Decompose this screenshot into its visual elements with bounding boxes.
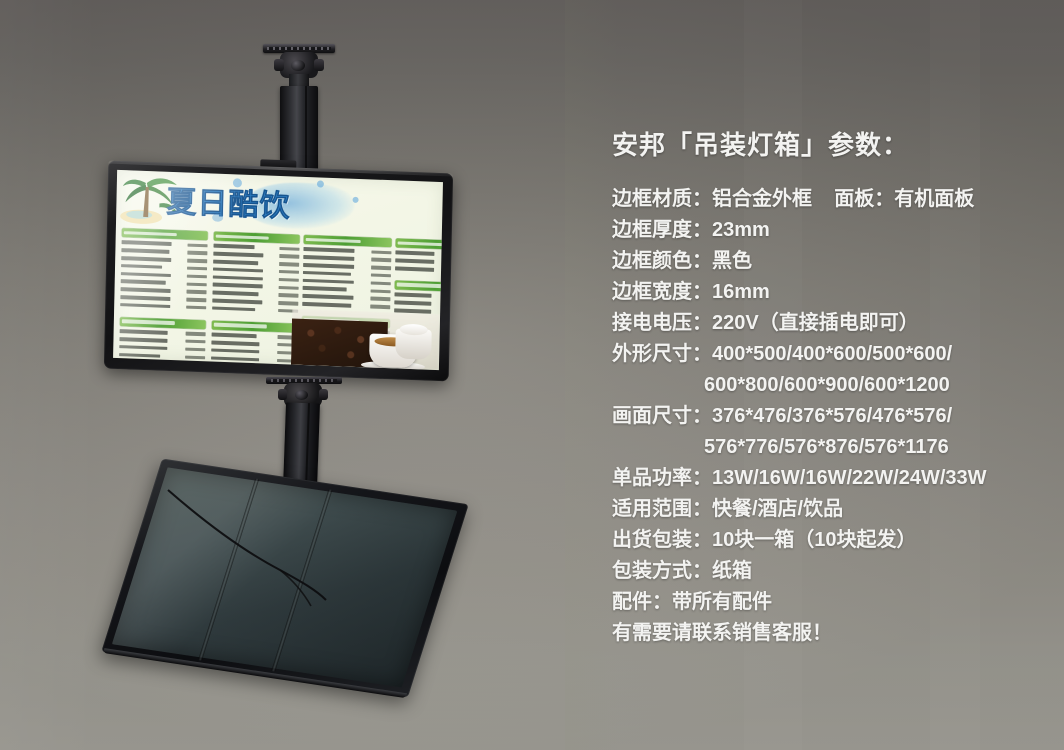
menu-item-name	[394, 293, 431, 298]
menu-item-price	[371, 250, 391, 254]
menu-item-name	[303, 271, 351, 276]
menu-item-price	[187, 251, 207, 255]
spec-line: 有需要请联系销售客服！	[612, 618, 1042, 649]
menu-column	[211, 232, 300, 371]
menu-column	[119, 228, 208, 370]
menu-item-name	[120, 329, 168, 334]
menu-item-name	[121, 248, 169, 253]
menu-item-name	[213, 244, 254, 249]
droplet-icon-3	[353, 197, 359, 203]
menu-item-name	[211, 356, 259, 361]
menu-item-price	[371, 281, 391, 285]
menu-item-price	[188, 243, 208, 247]
menu-item-price	[186, 298, 206, 302]
menu-item-name	[211, 340, 259, 345]
spec-line: 边框厚度：23mm	[612, 215, 1042, 246]
menu-item-name	[212, 291, 258, 296]
spec-line: 边框宽度：16mm	[612, 277, 1042, 308]
spec-line: 600*800/600*900/600*1200	[612, 370, 1042, 401]
menu-item-price	[371, 289, 391, 293]
menu-item-name	[395, 251, 434, 256]
menu-item-name	[213, 260, 258, 265]
menu-section-header	[122, 228, 208, 240]
menu-item-price	[278, 301, 298, 305]
menu-item-price	[370, 305, 390, 309]
spec-line: 外形尺寸：400*500/400*600/500*600/	[612, 339, 1042, 370]
menu-item-price	[279, 247, 299, 251]
menu-item-price	[187, 267, 207, 271]
menu-item-price	[371, 273, 391, 277]
menu-item-name	[303, 279, 354, 285]
menu-item-name	[212, 306, 255, 311]
menu-item-price	[185, 347, 205, 351]
menu-item-price	[186, 305, 206, 309]
spec-line: 边框材质：铝合金外框 面板：有机面板	[612, 184, 1042, 215]
menu-item-price	[186, 332, 206, 336]
spec-line: 包装方式：纸箱	[612, 556, 1042, 587]
menu-item-name	[395, 266, 434, 271]
menu-column	[394, 238, 443, 318]
lightbox-menu-panel: 夏日酷饮	[113, 170, 443, 370]
menu-section-header	[304, 235, 392, 247]
menu-item-price	[187, 282, 207, 286]
spec-text-block: 安邦「吊装灯箱」参数： 边框材质：铝合金外框 面板：有机面板边框厚度：23mm边…	[612, 128, 1042, 649]
spec-line: 出货包装：10块一箱（10块起发）	[612, 525, 1042, 556]
spec-line: 配件：带所有配件	[612, 587, 1042, 618]
menu-item-price	[371, 258, 391, 262]
spec-line: 576*776/576*876/576*1176	[612, 432, 1042, 463]
menu-item-name	[302, 302, 351, 307]
menu-item-name	[211, 348, 259, 353]
menu-item-price	[187, 259, 207, 263]
menu-section-header	[395, 280, 443, 292]
menu-item-price	[279, 278, 299, 282]
menu-lightbox-front: 夏日酷饮	[104, 161, 453, 382]
menu-item-name	[122, 241, 172, 246]
menu-item-price	[371, 266, 391, 270]
menu-item-name	[213, 283, 263, 288]
menu-item-name	[121, 264, 162, 269]
menu-item-name	[120, 295, 170, 300]
spec-line: 画面尺寸：376*476/376*576/476*576/	[612, 401, 1042, 432]
pivot-bolt-icon	[291, 60, 305, 71]
menu-lightbox-rear	[101, 459, 468, 698]
spec-line: 单品功率：13W/16W/16W/22W/24W/33W	[612, 463, 1042, 494]
spec-line: 边框颜色：黑色	[612, 246, 1042, 277]
menu-item-price	[185, 340, 205, 344]
backdrop-band-left	[0, 0, 100, 750]
menu-item-name	[120, 303, 170, 308]
coffee-cup-icon-back	[395, 328, 432, 359]
menu-item-name	[213, 275, 263, 280]
menu-item-price	[370, 297, 390, 301]
menu-item-name	[213, 267, 263, 272]
menu-item-name	[121, 287, 171, 292]
pivot-bolt-icon-lower	[295, 390, 308, 400]
menu-item-name	[213, 252, 263, 257]
menu-item-price	[279, 262, 299, 266]
menu-item-name	[302, 294, 353, 300]
menu-item-price	[187, 274, 207, 278]
menu-item-name	[121, 280, 166, 285]
spec-line: 接电电压：220V（直接插电即可）	[612, 308, 1042, 339]
menu-item-name	[303, 263, 354, 269]
spec-line: 适用范围：快餐/酒店/饮品	[612, 494, 1042, 525]
menu-item-name	[395, 259, 434, 264]
menu-item-name	[121, 272, 171, 277]
menu-item-name	[212, 299, 262, 304]
menu-item-price	[185, 355, 205, 359]
coffee-photo	[291, 309, 440, 371]
product-photo-canvas: 夏日酷饮	[0, 0, 1064, 750]
spec-line-list: 边框材质：铝合金外框 面板：有机面板边框厚度：23mm边框颜色：黑色边框宽度：1…	[612, 184, 1042, 649]
menu-item-price	[186, 290, 206, 294]
menu-item-price	[279, 254, 299, 258]
menu-item-name	[119, 353, 160, 358]
menu-item-price	[279, 286, 299, 290]
menu-item-name	[121, 256, 171, 261]
menu-item-name	[119, 337, 167, 342]
menu-item-price	[278, 293, 298, 297]
menu-item-name	[212, 333, 257, 338]
menu-item-name	[303, 255, 354, 261]
droplet-icon-4	[212, 213, 223, 221]
menu-item-name	[303, 247, 354, 253]
menu-item-name	[394, 301, 431, 306]
menu-item-price	[279, 270, 299, 274]
spec-title: 安邦「吊装灯箱」参数：	[612, 128, 1042, 162]
menu-section-header	[396, 238, 443, 250]
menu-item-name	[119, 345, 167, 350]
menu-section-header	[214, 232, 300, 244]
menu-item-name	[303, 286, 347, 291]
